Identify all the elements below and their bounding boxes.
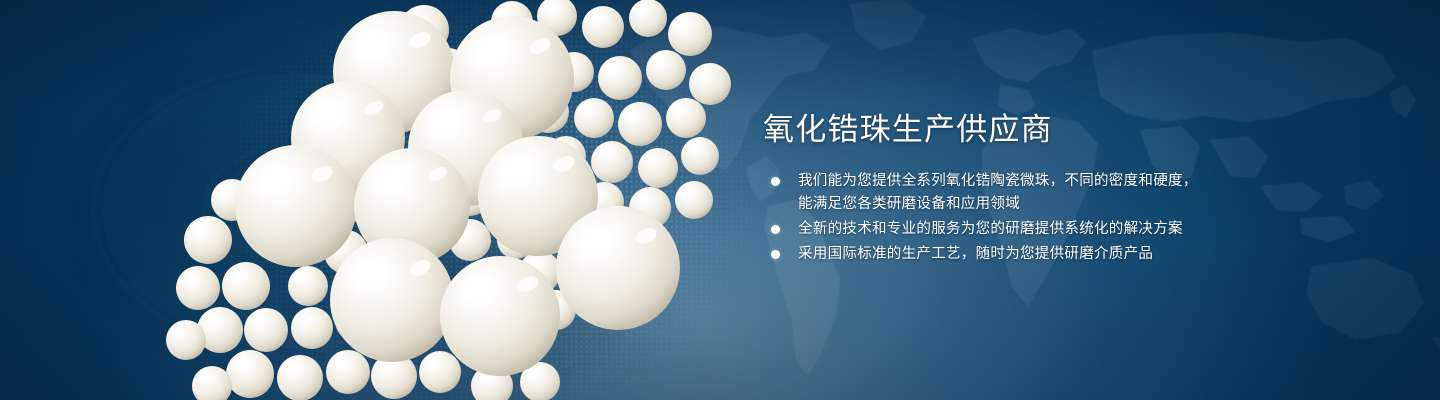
list-item: 全新的技术和专业的服务为您的研磨提供系统化的解决方案	[767, 218, 1237, 241]
list-item-line-1: 全新的技术和专业的服务为您的研磨提供系统化的解决方案	[798, 221, 1183, 237]
list-item-line-1: 我们能为您提供全系列氧化锆陶瓷微珠，不同的密度和硬度，	[798, 173, 1198, 189]
zirconia-beads-photo	[0, 0, 760, 400]
list-item-line-1: 采用国际标准的生产工艺，随时为您提供研磨介质产品	[798, 246, 1153, 262]
hero-banner: 氧化锆珠生产供应商 我们能为您提供全系列氧化锆陶瓷微珠，不同的密度和硬度， 能满…	[0, 0, 1440, 400]
bullet-dot-icon	[771, 177, 780, 186]
bullet-dot-icon	[771, 250, 780, 259]
page-title: 氧化锆珠生产供应商	[763, 110, 1053, 150]
banner-content: 氧化锆珠生产供应商 我们能为您提供全系列氧化锆陶瓷微珠，不同的密度和硬度， 能满…	[763, 0, 1323, 400]
list-item: 我们能为您提供全系列氧化锆陶瓷微珠，不同的密度和硬度， 能满足您各类研磨设备和应…	[767, 170, 1237, 216]
list-item-line-2: 能满足您各类研磨设备和应用领域	[798, 193, 1237, 216]
feature-list: 我们能为您提供全系列氧化锆陶瓷微珠，不同的密度和硬度， 能满足您各类研磨设备和应…	[767, 170, 1237, 266]
bullet-dot-icon	[771, 225, 780, 234]
list-item: 采用国际标准的生产工艺，随时为您提供研磨介质产品	[767, 243, 1237, 266]
